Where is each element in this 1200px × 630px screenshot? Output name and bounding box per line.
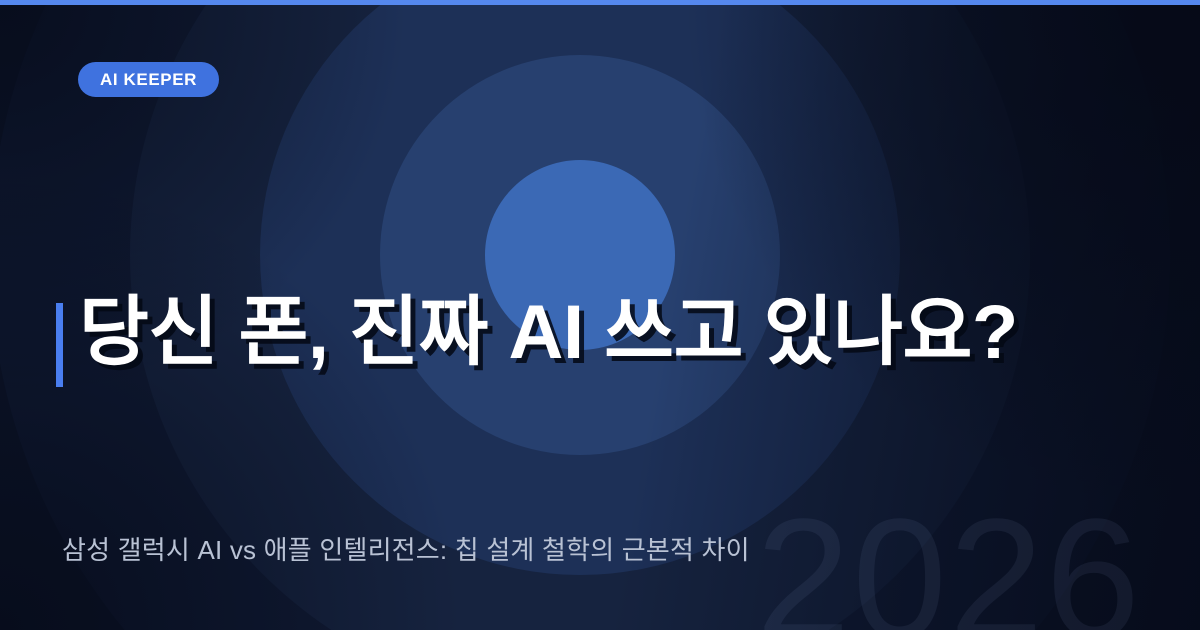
thumbnail-card: 2026 AI KEEPER 당신 폰, 진짜 AI 쓰고 있나요? 삼성 갤럭…: [0, 0, 1200, 630]
hero-content: AI KEEPER 당신 폰, 진짜 AI 쓰고 있나요? 삼성 갤럭시 AI …: [0, 0, 1200, 630]
headline-accent-bar: [56, 303, 63, 387]
top-accent-rule: [0, 0, 1200, 5]
page-subtitle: 삼성 갤럭시 AI vs 애플 인텔리전스: 칩 설계 철학의 근본적 차이: [62, 530, 750, 567]
headline-block: 당신 폰, 진짜 AI 쓰고 있나요?: [56, 292, 1018, 387]
brand-badge[interactable]: AI KEEPER: [78, 62, 219, 97]
brand-badge-label: AI KEEPER: [100, 70, 197, 90]
page-title: 당신 폰, 진짜 AI 쓰고 있나요?: [79, 292, 1018, 387]
